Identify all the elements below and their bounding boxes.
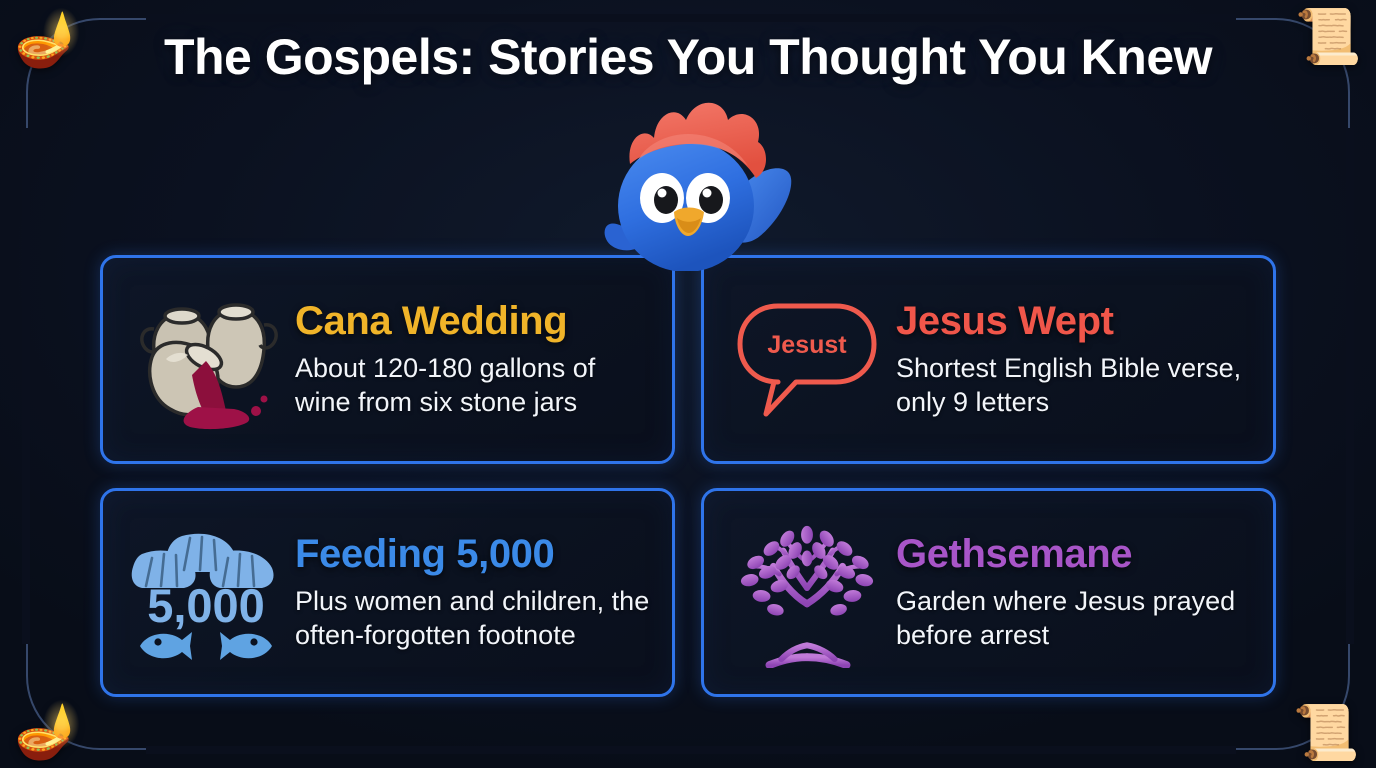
olive-tree-icon (728, 518, 886, 668)
card-cana-wedding[interactable]: Cana Wedding About 120-180 gallons of wi… (100, 255, 675, 464)
card-title: Jesus Wept (896, 300, 1255, 342)
card-body: Jesus Wept Shortest English Bible verse,… (896, 300, 1255, 419)
card-gethsemane[interactable]: Gethsemane Garden where Jesus prayed bef… (701, 488, 1276, 697)
frame-cover-bottom (146, 746, 1236, 754)
card-title: Gethsemane (896, 533, 1255, 575)
speech-bubble-icon: Jesust (728, 285, 886, 435)
facts-grid: Cana Wedding About 120-180 gallons of wi… (100, 255, 1276, 697)
card-jesus-wept[interactable]: Jesust Jesus Wept Shortest English Bible… (701, 255, 1276, 464)
frame-cover-top (146, 14, 1236, 22)
card-title: Cana Wedding (295, 300, 654, 342)
slide-root: 🪔 📜 🪔 📜 The Gospels: Stories You Thought… (0, 0, 1376, 768)
card-body: Cana Wedding About 120-180 gallons of wi… (295, 300, 654, 419)
card-title: Feeding 5,000 (295, 533, 654, 575)
card-feeding-5000[interactable]: 5,000 Feeding 5,000 Plus women and child… (100, 488, 675, 697)
loaves-and-fishes-icon: 5,000 (127, 518, 285, 668)
stone-jars-pouring-wine-icon (127, 285, 285, 435)
frame-cover-right (1346, 128, 1354, 644)
blue-bird-mascot (578, 86, 798, 271)
card-description: Plus women and children, the often-forgo… (295, 584, 654, 652)
frame-cover-left (22, 128, 30, 644)
bubble-label: Jesust (767, 331, 847, 359)
slide-title: The Gospels: Stories You Thought You Kne… (0, 28, 1376, 86)
scroll-icon: 📜 (1293, 706, 1360, 760)
card-body: Feeding 5,000 Plus women and children, t… (295, 533, 654, 652)
card-description: Garden where Jesus prayed before arrest (896, 584, 1255, 652)
card-description: About 120-180 gallons of wine from six s… (295, 351, 654, 419)
card-body: Gethsemane Garden where Jesus prayed bef… (896, 533, 1255, 652)
card-description: Shortest English Bible verse, only 9 let… (896, 351, 1255, 419)
oil-lamp-icon: 🪔 (14, 704, 81, 758)
count-label: 5,000 (147, 579, 265, 632)
